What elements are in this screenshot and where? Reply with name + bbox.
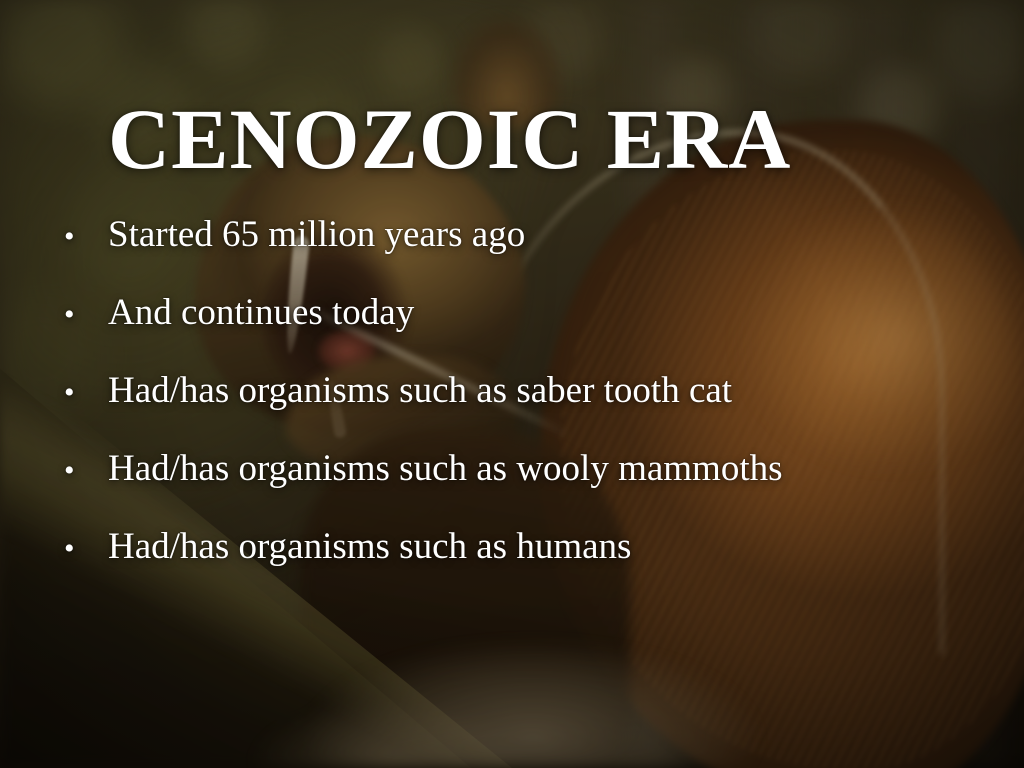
bullet-text: And continues today [108, 274, 1004, 352]
bullet-marker-icon: • [64, 510, 108, 588]
slide-content: CENOZOIC ERA • Started 65 million years … [0, 0, 1024, 768]
slide-title: CENOZOIC ERA [108, 94, 938, 184]
bullet-item: • And continues today [64, 274, 1004, 352]
bullet-marker-icon: • [64, 432, 108, 510]
bullet-item: • Had/has organisms such as saber tooth … [64, 352, 1004, 430]
bullet-text: Had/has organisms such as saber tooth ca… [108, 352, 1004, 430]
bullet-text: Had/has organisms such as wooly mammoths [108, 430, 1004, 508]
bullet-marker-icon: • [64, 354, 108, 432]
bullet-item: • Started 65 million years ago [64, 196, 1004, 274]
bullet-marker-icon: • [64, 198, 108, 276]
bullet-marker-icon: • [64, 276, 108, 354]
bullet-item: • Had/has organisms such as humans [64, 508, 1004, 586]
bullet-list: • Started 65 million years ago • And con… [64, 196, 1004, 586]
presentation-slide: CENOZOIC ERA • Started 65 million years … [0, 0, 1024, 768]
bullet-text: Had/has organisms such as humans [108, 508, 1004, 586]
bullet-text: Started 65 million years ago [108, 196, 1004, 274]
bullet-item: • Had/has organisms such as wooly mammot… [64, 430, 1004, 508]
